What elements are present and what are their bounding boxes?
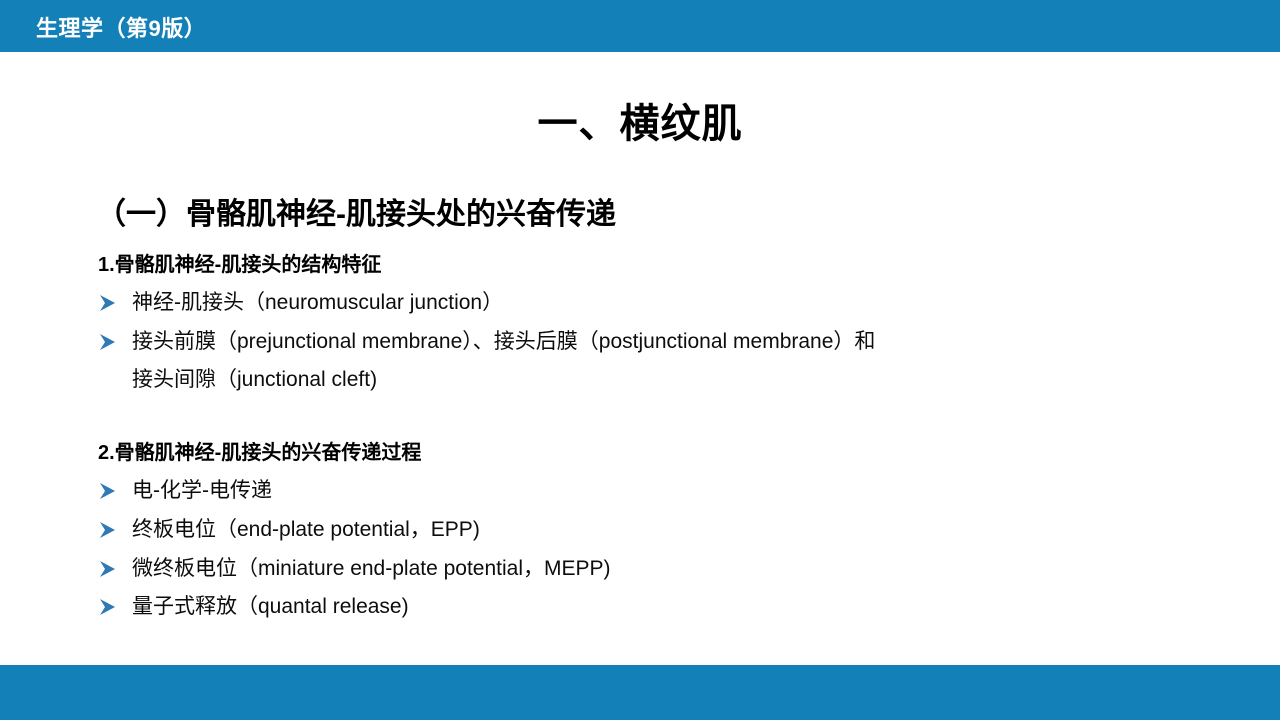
list-item: 微终板电位（miniature end-plate potential，MEPP… [94,550,1244,588]
bullet-list-1: 神经-肌接头（neuromuscular junction） 接头前膜（prej… [94,284,1244,398]
list-item-text: 电-化学-电传递 [132,472,1244,510]
list-item: 量子式释放（quantal release) [94,588,1244,626]
list-item-text: 神经-肌接头（neuromuscular junction） [132,284,1244,322]
slide-root: 生理学（第9版） 一、横纹肌 （一）骨骼肌神经-肌接头处的兴奋传递 1.骨骼肌神… [0,0,1280,720]
arrow-right-icon [98,511,122,549]
bullet-list-2: 电-化学-电传递 终板电位（end-plate potential，EPP) [94,472,1244,626]
list-item-text-continued: 接头间隙（junctional cleft) [132,361,1244,399]
content-block-1: 1.骨骼肌神经-肌接头的结构特征 神经-肌接头（neuromuscular ju… [94,252,1244,399]
section-heading: （一）骨骼肌神经-肌接头处的兴奋传递 [96,189,616,233]
page-title: 一、横纹肌 [0,102,1280,146]
list-item-text: 微终板电位（miniature end-plate potential，MEPP… [132,550,1244,588]
list-item: 神经-肌接头（neuromuscular junction） [94,284,1244,322]
list-item: 电-化学-电传递 [94,472,1244,510]
arrow-right-icon [98,284,122,322]
list-item-text: 量子式释放（quantal release) [132,588,1244,626]
arrow-right-icon [98,550,122,588]
arrow-right-icon [98,323,122,361]
content-block-2: 2.骨骼肌神经-肌接头的兴奋传递过程 电-化学-电传递 [94,440,1244,627]
sub-heading-2: 2.骨骼肌神经-肌接头的兴奋传递过程 [94,440,1244,466]
book-title: 生理学（第9版） [36,11,206,43]
list-item: 终板电位（end-plate potential，EPP) [94,511,1244,549]
list-item-text: 接头前膜（prejunctional membrane）、接头后膜（postju… [132,323,1244,361]
header-bar: 生理学（第9版） [0,0,1280,52]
slide-content: 一、横纹肌 （一）骨骼肌神经-肌接头处的兴奋传递 1.骨骼肌神经-肌接头的结构特… [0,52,1280,665]
list-item: 接头前膜（prejunctional membrane）、接头后膜（postju… [94,323,1244,399]
footer-bar [0,665,1280,720]
arrow-right-icon [98,588,122,626]
arrow-right-icon [98,472,122,510]
list-item-text: 终板电位（end-plate potential，EPP) [132,511,1244,549]
sub-heading-1: 1.骨骼肌神经-肌接头的结构特征 [94,252,1244,278]
